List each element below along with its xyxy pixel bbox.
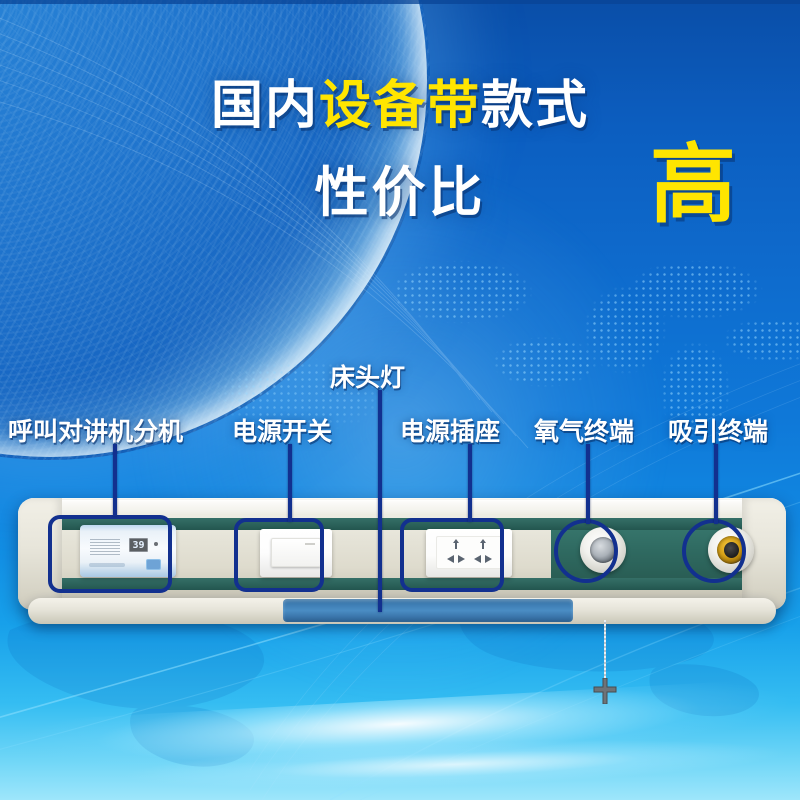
callout-label-switch: 电源开关 [232,412,332,448]
callout-label-intercom: 呼叫对讲机分机 [8,412,183,448]
callout-label-oxygen: 氧气终端 [534,412,634,448]
promo-banner: 国内设备带款式 性价比 高 呼叫对讲机分机 电源开关 床头灯 电源插座 氧气终端… [0,0,800,800]
callout-label-bed-lamp: 床头灯 [330,358,405,394]
leader-line-socket [468,444,472,522]
leader-line-oxygen [586,444,590,524]
callout-label-socket: 电源插座 [400,412,500,448]
leader-line-suction [714,444,718,524]
callout-labels: 呼叫对讲机分机 电源开关 床头灯 电源插座 氧气终端 吸引终端 [0,0,800,800]
leader-line-intercom [113,444,117,516]
leader-line-bed-lamp [378,390,382,612]
callout-label-suction: 吸引终端 [668,412,768,448]
leader-line-switch [288,444,292,522]
